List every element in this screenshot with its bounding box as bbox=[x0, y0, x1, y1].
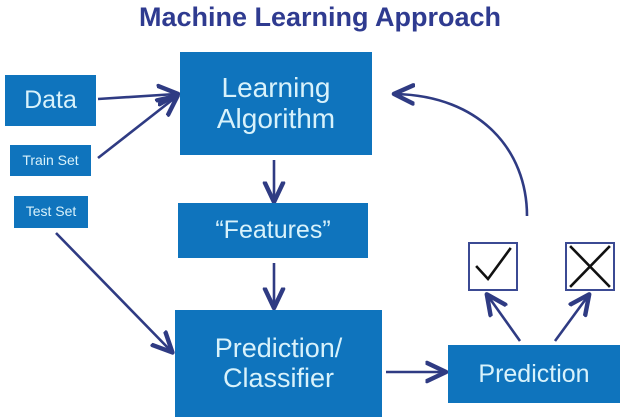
arrow-feedback-to-learning bbox=[396, 94, 527, 216]
diagram-canvas: Machine Learning Approach Data Train Set… bbox=[0, 0, 640, 417]
node-features[interactable]: “Features” bbox=[178, 203, 368, 258]
arrow-prediction-to-cross bbox=[555, 296, 588, 341]
node-train-set[interactable]: Train Set bbox=[10, 145, 91, 176]
arrow-test-to-prediction-classifier bbox=[56, 233, 171, 351]
node-data[interactable]: Data bbox=[5, 75, 96, 126]
node-incorrect-result[interactable] bbox=[565, 242, 615, 291]
node-test-set[interactable]: Test Set bbox=[14, 196, 88, 228]
node-prediction-classifier[interactable]: Prediction/ Classifier bbox=[175, 310, 382, 417]
arrow-prediction-to-check bbox=[488, 296, 520, 341]
page-title: Machine Learning Approach bbox=[0, 2, 640, 33]
cross-mark-icon bbox=[567, 244, 613, 289]
node-learning-algorithm[interactable]: Learning Algorithm bbox=[180, 52, 372, 155]
node-correct-result[interactable] bbox=[468, 242, 518, 291]
check-mark-icon bbox=[470, 244, 516, 289]
arrow-train-to-learning bbox=[98, 97, 176, 158]
node-prediction[interactable]: Prediction bbox=[448, 345, 620, 403]
arrow-data-to-learning bbox=[98, 94, 176, 99]
